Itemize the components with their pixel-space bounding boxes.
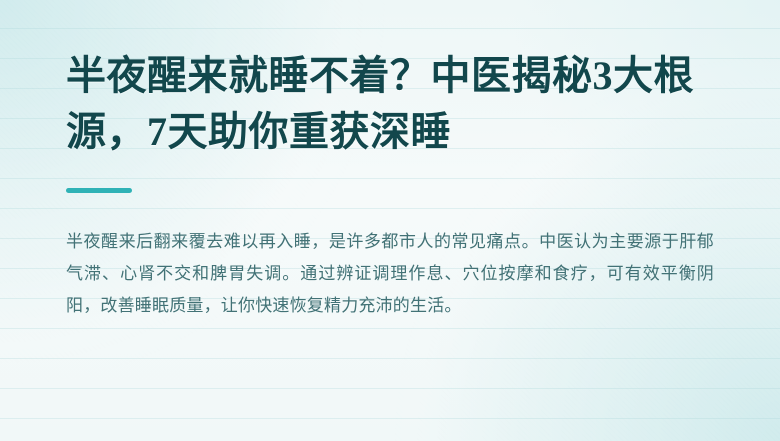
card-content: 半夜醒来就睡不着？中医揭秘3大根源，7天助你重获深睡 半夜醒来后翻来覆去难以再入… [0,0,780,322]
headline-title: 半夜醒来就睡不着？中医揭秘3大根源，7天助你重获深睡 [66,0,714,160]
summary-paragraph: 半夜醒来后翻来覆去难以再入睡，是许多都市人的常见痛点。中医认为主要源于肝郁气滞、… [66,193,714,322]
article-cover-card: 半夜醒来就睡不着？中医揭秘3大根源，7天助你重获深睡 半夜醒来后翻来覆去难以再入… [0,0,780,441]
